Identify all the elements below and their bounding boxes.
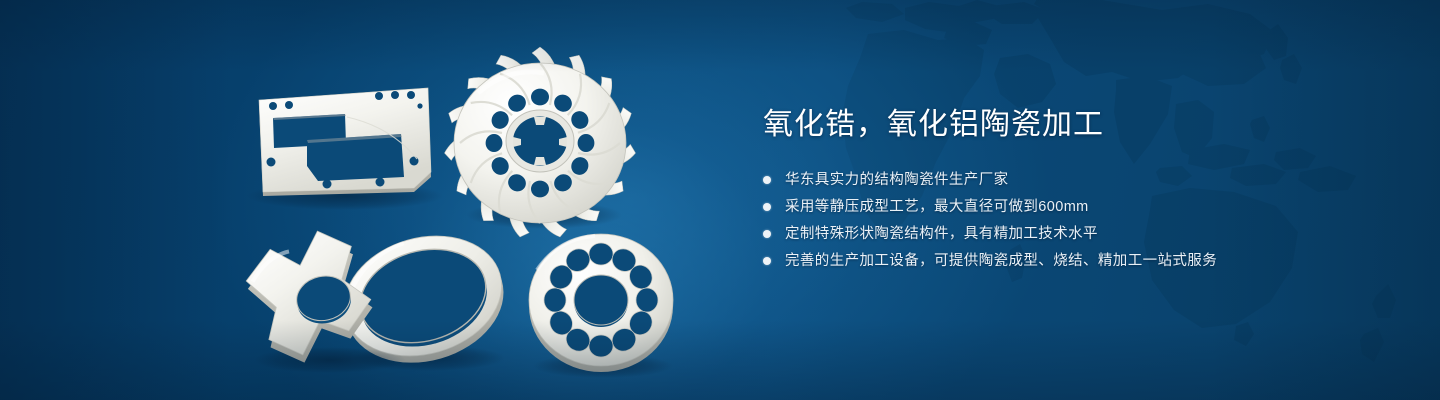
bullet-dot-icon bbox=[763, 176, 771, 184]
list-item-label: 完善的生产加工设备，可提供陶瓷成型、烧结、精加工一站式服务 bbox=[785, 249, 1217, 273]
list-item-label: 定制特殊形状陶瓷结构件，具有精加工技术水平 bbox=[785, 222, 1098, 246]
feature-list: 华东具实力的结构陶瓷件生产厂家 采用等静压成型工艺，最大直径可做到600mm 定… bbox=[763, 168, 1383, 273]
list-item-label: 采用等静压成型工艺，最大直径可做到600mm bbox=[785, 195, 1089, 219]
ceramic-hole-disc bbox=[529, 234, 673, 378]
list-item-label: 华东具实力的结构陶瓷件生产厂家 bbox=[785, 168, 1009, 192]
promo-banner: 氧化锆，氧化铝陶瓷加工 华东具实力的结构陶瓷件生产厂家 采用等静压成型工艺，最大… bbox=[0, 0, 1440, 400]
banner-copy: 氧化锆，氧化铝陶瓷加工 华东具实力的结构陶瓷件生产厂家 采用等静压成型工艺，最大… bbox=[763, 104, 1383, 276]
list-item: 华东具实力的结构陶瓷件生产厂家 bbox=[763, 168, 1383, 192]
list-item: 采用等静压成型工艺，最大直径可做到600mm bbox=[763, 195, 1383, 219]
list-item: 定制特殊形状陶瓷结构件，具有精加工技术水平 bbox=[763, 222, 1383, 246]
ceramic-flat-plate bbox=[247, 88, 443, 210]
page-title: 氧化锆，氧化铝陶瓷加工 bbox=[763, 104, 1383, 146]
list-item: 完善的生产加工设备，可提供陶瓷成型、烧结、精加工一站式服务 bbox=[763, 249, 1383, 273]
ceramic-impeller bbox=[443, 47, 636, 240]
bullet-dot-icon bbox=[763, 257, 771, 265]
product-photo-group bbox=[0, 0, 740, 400]
bullet-dot-icon bbox=[763, 230, 771, 238]
bullet-dot-icon bbox=[763, 203, 771, 211]
